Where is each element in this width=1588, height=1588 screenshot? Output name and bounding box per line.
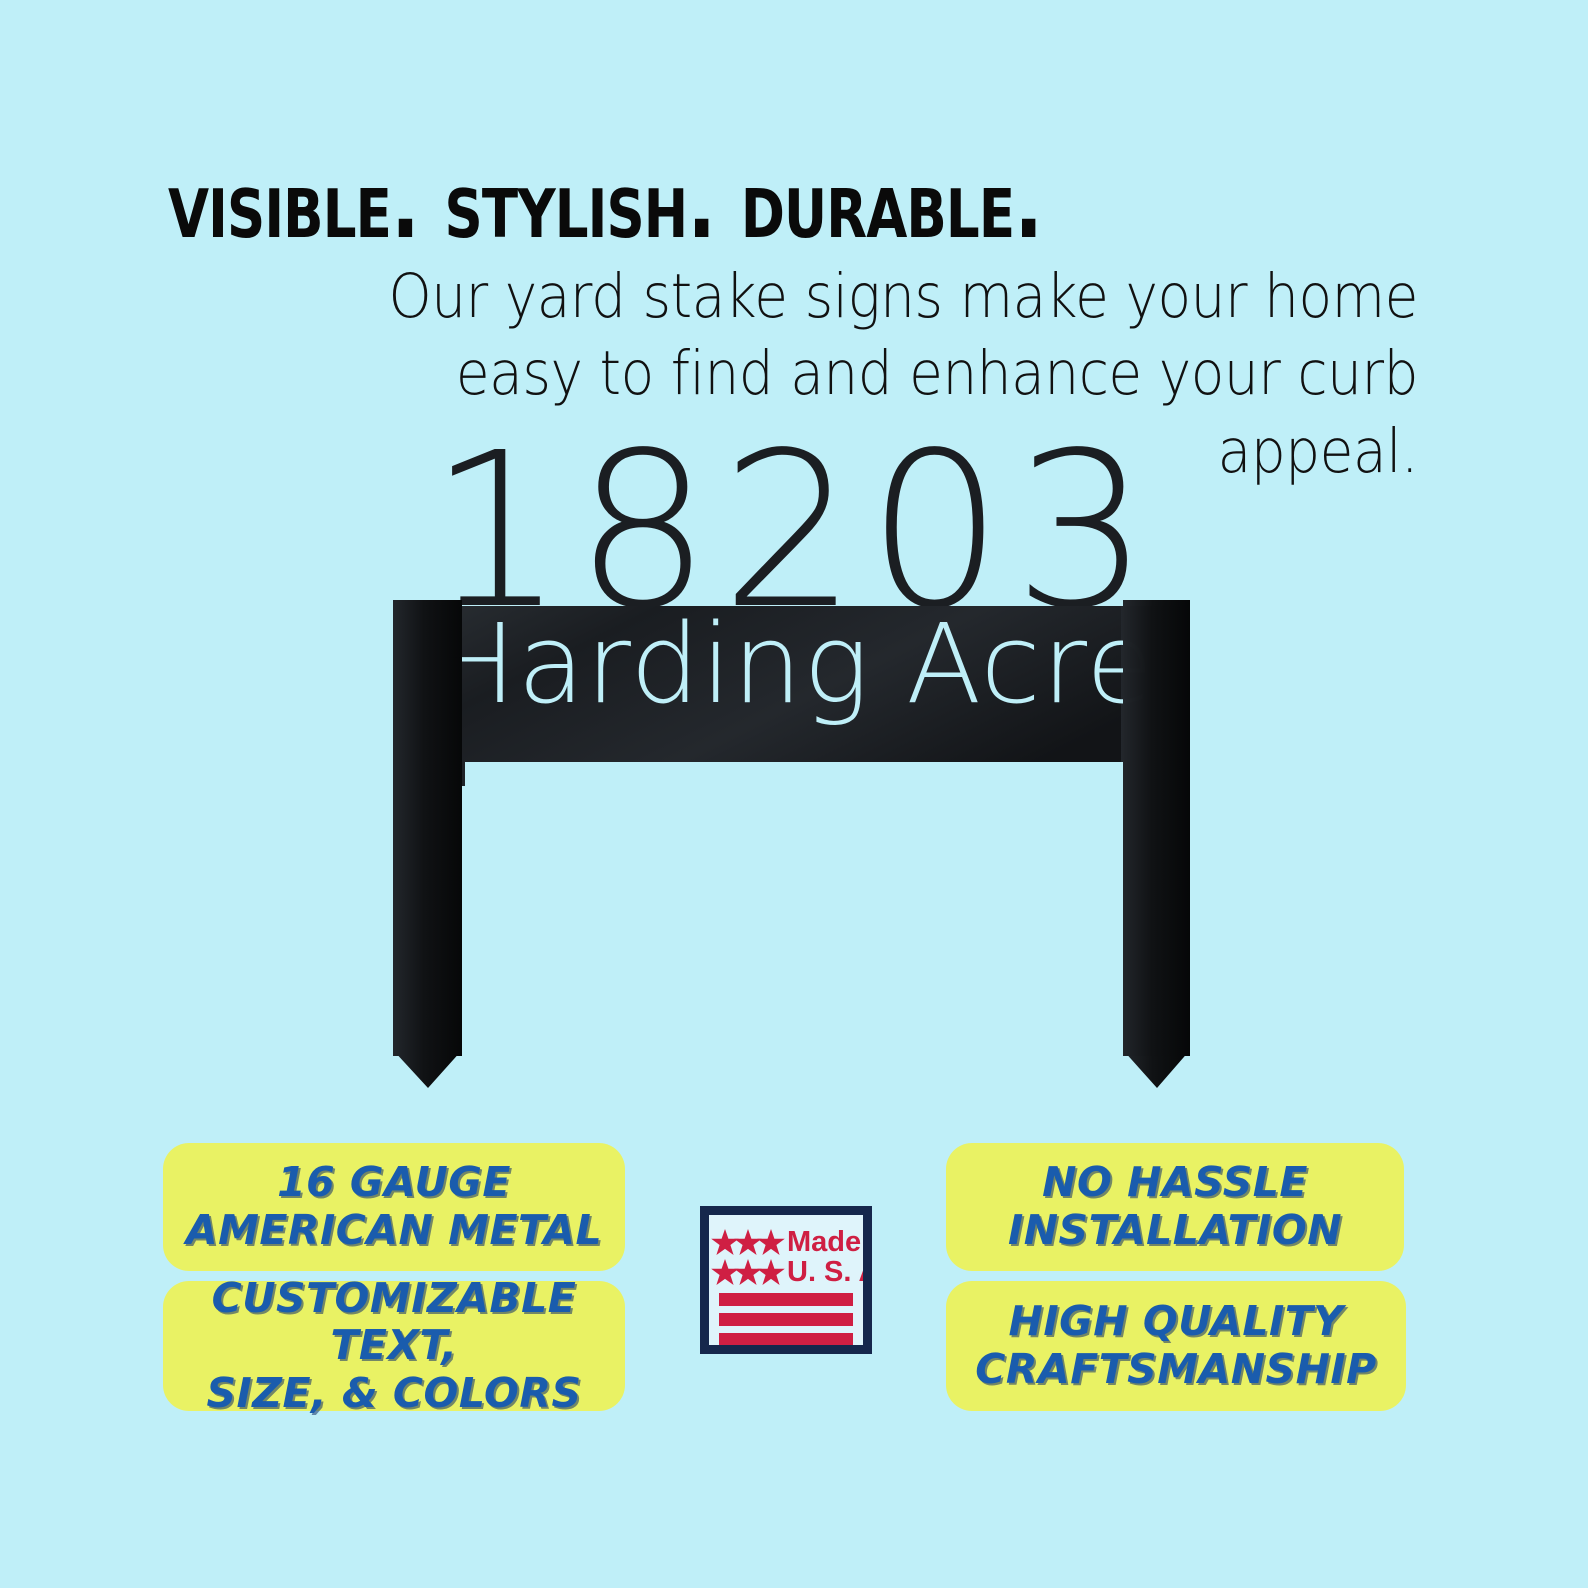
flag-stripes <box>719 1293 853 1345</box>
made-in-label: Made in <box>787 1226 863 1258</box>
flag-stars-row-1 <box>711 1229 785 1255</box>
feature-badge-no-hassle-installation: NO HASSLE INSTALLATION <box>946 1143 1404 1271</box>
made-in-usa-flag-graphic: Made in U. S. A. <box>709 1215 863 1345</box>
feature-badge-label: HIGH QUALITY CRAFTSMANSHIP <box>975 1298 1376 1393</box>
feature-badge-label: CUSTOMIZABLE TEXT, SIZE, & COLORS <box>177 1275 611 1418</box>
sign-plate <box>393 606 1190 1056</box>
headline-block: Visible. Stylish. Durable. Our yard stak… <box>0 0 1588 420</box>
feature-badge-label: NO HASSLE INSTALLATION <box>1008 1159 1342 1254</box>
feature-badge-customizable: CUSTOMIZABLE TEXT, SIZE, & COLORS <box>163 1281 625 1411</box>
flag-stars-row-2 <box>711 1259 785 1285</box>
feature-badge-label: 16 GAUGE AMERICAN METAL <box>186 1159 602 1254</box>
product-marketing-poster: Visible. Stylish. Durable. Our yard stak… <box>0 0 1588 1588</box>
usa-label: U. S. A. <box>787 1256 863 1288</box>
yard-stake-sign-illustration: Harding Acre 18203 <box>360 430 1228 1110</box>
feature-badge-high-quality: HIGH QUALITY CRAFTSMANSHIP <box>946 1281 1406 1411</box>
sign-graphic: Harding Acre 18203 <box>360 430 1228 1110</box>
feature-badge-16-gauge: 16 GAUGE AMERICAN METAL <box>163 1143 625 1271</box>
made-in-usa-badge: Made in U. S. A. <box>700 1206 872 1354</box>
page-title: Visible. Stylish. Durable. <box>168 160 1277 248</box>
